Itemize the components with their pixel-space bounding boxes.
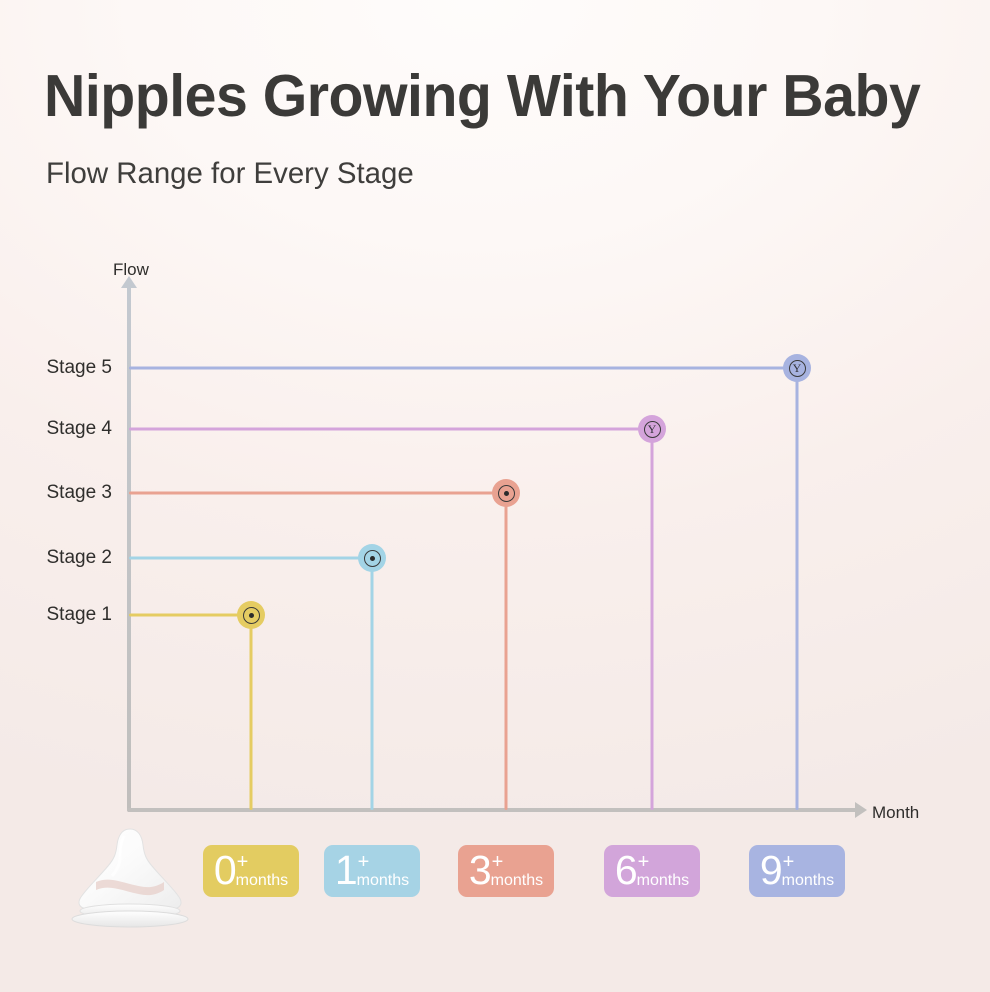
y-cut-glyph: Y (648, 423, 657, 435)
data-point-marker-y-cut-5[interactable]: Y (783, 354, 811, 382)
badge-unit-label: months (236, 873, 288, 889)
stage-label-text: Stage 4 (47, 418, 113, 440)
month-badge-3[interactable]: 3+months (458, 845, 554, 897)
month-badge-9[interactable]: 9+months (749, 845, 845, 897)
badge-number: 6 (615, 850, 637, 891)
badge-unit-label: months (491, 873, 543, 889)
single-hole-glyph (370, 556, 375, 561)
stage-label-text: Stage 2 (47, 547, 113, 569)
badge-unit-group: +months (637, 854, 689, 889)
badge-unit-group: +months (491, 854, 543, 889)
x-axis-label: Month (872, 803, 919, 823)
month-badge-6[interactable]: 6+months (604, 845, 700, 897)
marker-ring (243, 607, 260, 624)
data-point-marker-single-hole-2[interactable] (358, 544, 386, 572)
stage-horizontal-line-2 (129, 557, 372, 560)
badge-unit-group: +months (236, 854, 288, 889)
badge-number: 3 (469, 850, 491, 891)
single-hole-glyph (504, 491, 509, 496)
data-point-marker-single-hole-3[interactable] (492, 479, 520, 507)
data-point-marker-y-cut-4[interactable]: Y (638, 415, 666, 443)
data-point-marker-single-hole-1[interactable] (237, 601, 265, 629)
marker-ring (364, 550, 381, 567)
infographic-canvas: Nipples Growing With Your Baby Flow Rang… (0, 0, 990, 992)
badge-unit-label: months (782, 873, 834, 889)
badge-plus-sign: + (237, 854, 249, 871)
badge-unit-label: months (357, 873, 409, 889)
badge-number: 1 (335, 850, 357, 891)
stage-horizontal-line-4 (129, 428, 652, 431)
bottle-nipple-icon (62, 826, 198, 934)
badge-plus-sign: + (638, 854, 650, 871)
stage-horizontal-line-1 (129, 614, 251, 617)
marker-ring: Y (789, 360, 806, 377)
badge-unit-group: +months (782, 854, 834, 889)
badge-number: 0 (214, 850, 236, 891)
stage-vertical-line-1 (250, 615, 253, 810)
marker-ring (498, 485, 515, 502)
stage-vertical-line-4 (651, 429, 654, 810)
stage-horizontal-line-3 (129, 492, 506, 495)
stage-vertical-line-5 (796, 368, 799, 810)
page-title: Nipples Growing With Your Baby (44, 62, 920, 130)
x-axis (127, 808, 858, 812)
page-subtitle: Flow Range for Every Stage (46, 157, 414, 191)
stage-vertical-line-2 (371, 558, 374, 810)
stage-label-text: Stage 1 (47, 604, 113, 626)
arrow-right-icon (855, 802, 867, 818)
badge-plus-sign: + (492, 854, 504, 871)
stage-horizontal-line-5 (129, 367, 797, 370)
month-badge-1[interactable]: 1+months (324, 845, 420, 897)
badge-number: 9 (760, 850, 782, 891)
y-axis-label: Flow (113, 260, 149, 280)
badge-plus-sign: + (783, 854, 795, 871)
badge-unit-label: months (637, 873, 689, 889)
stage-label-text: Stage 5 (47, 357, 113, 379)
single-hole-glyph (249, 613, 254, 618)
y-cut-glyph: Y (793, 362, 802, 374)
month-badge-0[interactable]: 0+months (203, 845, 299, 897)
y-axis (127, 285, 131, 812)
stage-label-text: Stage 3 (47, 482, 113, 504)
badge-plus-sign: + (358, 854, 370, 871)
marker-ring: Y (644, 421, 661, 438)
stage-vertical-line-3 (505, 493, 508, 810)
badge-unit-group: +months (357, 854, 409, 889)
